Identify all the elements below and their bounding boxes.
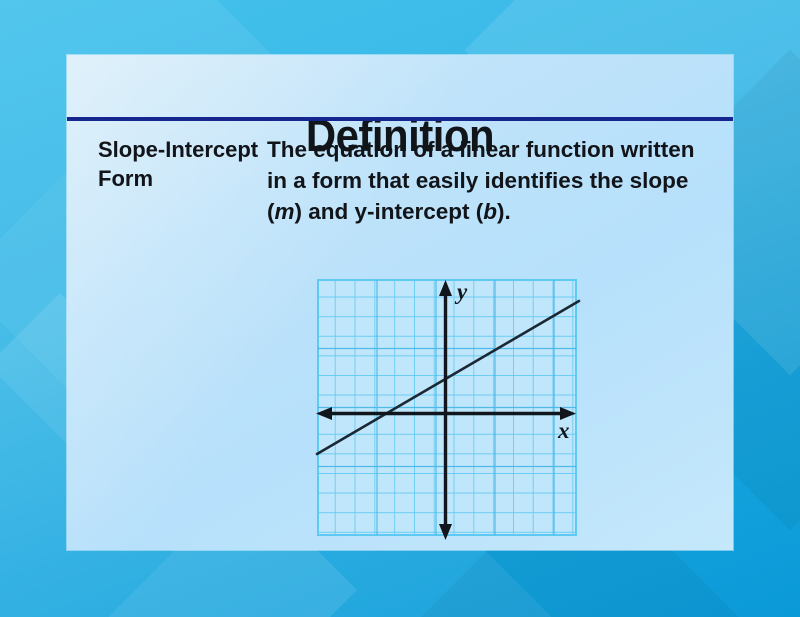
definition-text: The equation of a linear function writte… xyxy=(267,134,707,227)
definition-part-3: ). xyxy=(497,199,511,224)
y-axis-label: y xyxy=(454,279,468,304)
graph-svg: y x xyxy=(315,277,585,542)
x-axis-label: x xyxy=(557,418,570,443)
variable-m: m xyxy=(275,199,295,224)
definition-card: Definition Slope-Intercept Form The equa… xyxy=(67,55,733,550)
slide-canvas: Definition Slope-Intercept Form The equa… xyxy=(0,0,800,617)
coordinate-graph: y x xyxy=(315,277,585,542)
term-label: Slope-Intercept Form xyxy=(98,135,273,193)
title-divider xyxy=(67,117,733,121)
definition-part-2: ) and y-intercept ( xyxy=(295,199,484,224)
variable-b: b xyxy=(483,199,497,224)
